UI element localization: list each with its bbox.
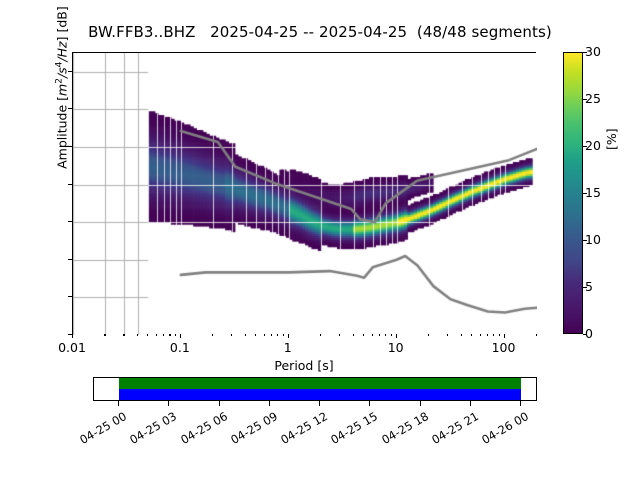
x-tick-label-3: 10 — [366, 340, 426, 355]
x-tick-label-4: 100 — [474, 340, 534, 355]
y-tick-mark-0 — [68, 71, 72, 72]
colorbar-tick-label-3: 15 — [585, 185, 601, 200]
colorbar-tick-label-4: 20 — [585, 138, 601, 153]
y-axis-label: Amplitude [m2/s4/Hz] [dB] — [54, 0, 69, 198]
x-tick-minor — [461, 334, 462, 336]
colorbar-label: [%] — [604, 128, 619, 150]
colorbar-tick-mark-4 — [583, 146, 587, 147]
timeline-tick-mark-7 — [470, 401, 471, 406]
x-tick-minor — [104, 334, 105, 336]
x-tick-minor — [447, 334, 448, 336]
y-tick-mark-6 — [68, 296, 72, 297]
ppsd-plot-area[interactable] — [72, 52, 536, 334]
x-tick-minor — [353, 334, 354, 336]
x-tick-minor — [536, 334, 537, 336]
x-tick-minor — [391, 334, 392, 336]
ppsd-histogram-canvas — [73, 53, 537, 335]
timeline-tick-mark-5 — [369, 401, 370, 406]
x-tick-minor — [277, 334, 278, 336]
x-tick-minor — [379, 334, 380, 336]
x-tick-minor — [175, 334, 176, 336]
colorbar-tick-mark-2 — [583, 240, 587, 241]
x-tick-minor — [245, 334, 246, 336]
x-tick-minor — [212, 334, 213, 336]
x-tick-minor — [283, 334, 284, 336]
x-tick-minor — [385, 334, 386, 336]
y-tick-mark-3 — [68, 184, 72, 185]
x-tick-minor — [163, 334, 164, 336]
x-tick-minor — [320, 334, 321, 336]
x-tick-minor — [123, 334, 124, 336]
x-tick-mark-0 — [72, 334, 73, 338]
x-tick-minor — [255, 334, 256, 336]
y-tick-mark-1 — [68, 108, 72, 109]
x-tick-minor — [339, 334, 340, 336]
x-tick-minor — [156, 334, 157, 336]
timeline-tick-mark-6 — [420, 401, 421, 406]
y-tick-mark-4 — [68, 221, 72, 222]
x-tick-minor — [493, 334, 494, 336]
x-tick-minor — [363, 334, 364, 336]
x-tick-minor — [264, 334, 265, 336]
colorbar-tick-mark-3 — [583, 193, 587, 194]
x-tick-minor — [487, 334, 488, 336]
colorbar-tick-label-6: 30 — [585, 44, 601, 59]
x-tick-mark-1 — [180, 334, 181, 338]
timeline-tick-mark-0 — [118, 401, 119, 406]
colorbar-tick-mark-1 — [583, 287, 587, 288]
timeline-bar-green — [119, 378, 521, 389]
timeline-tick-mark-2 — [219, 401, 220, 406]
x-tick-minor — [147, 334, 148, 336]
x-tick-minor — [271, 334, 272, 336]
x-tick-minor — [169, 334, 170, 336]
timeline-tick-mark-4 — [319, 401, 320, 406]
colorbar-tick-label-2: 10 — [585, 232, 601, 247]
x-tick-minor — [428, 334, 429, 336]
colorbar-tick-label-5: 25 — [585, 91, 601, 106]
colorbar-tick-mark-5 — [583, 99, 587, 100]
colorbar-tick-mark-6 — [583, 52, 587, 53]
timeline-strip[interactable] — [93, 377, 537, 401]
x-tick-minor — [372, 334, 373, 336]
x-tick-label-0: 0.01 — [42, 340, 102, 355]
y-tick-mark-5 — [68, 259, 72, 260]
timeline-bar-blue — [119, 389, 521, 400]
x-tick-mark-2 — [288, 334, 289, 338]
timeline-tick-mark-8 — [520, 401, 521, 406]
x-tick-minor — [231, 334, 232, 336]
y-tick-mark-2 — [68, 146, 72, 147]
x-tick-label-1: 0.1 — [150, 340, 210, 355]
x-tick-label-2: 1 — [258, 340, 318, 355]
timeline-tick-mark-3 — [269, 401, 270, 406]
x-tick-minor — [480, 334, 481, 336]
timeline-tick-mark-1 — [168, 401, 169, 406]
figure-title: BW.FFB3..BHZ 2025-04-25 -- 2025-04-25 (4… — [0, 23, 640, 41]
x-tick-mark-3 — [396, 334, 397, 338]
x-tick-minor — [137, 334, 138, 336]
x-axis-label: Period [s] — [72, 358, 536, 373]
x-tick-mark-4 — [504, 334, 505, 338]
x-tick-minor — [499, 334, 500, 336]
x-tick-minor — [471, 334, 472, 336]
colorbar — [563, 52, 583, 334]
ppsd-figure: BW.FFB3..BHZ 2025-04-25 -- 2025-04-25 (4… — [0, 0, 640, 480]
colorbar-tick-mark-0 — [583, 334, 587, 335]
